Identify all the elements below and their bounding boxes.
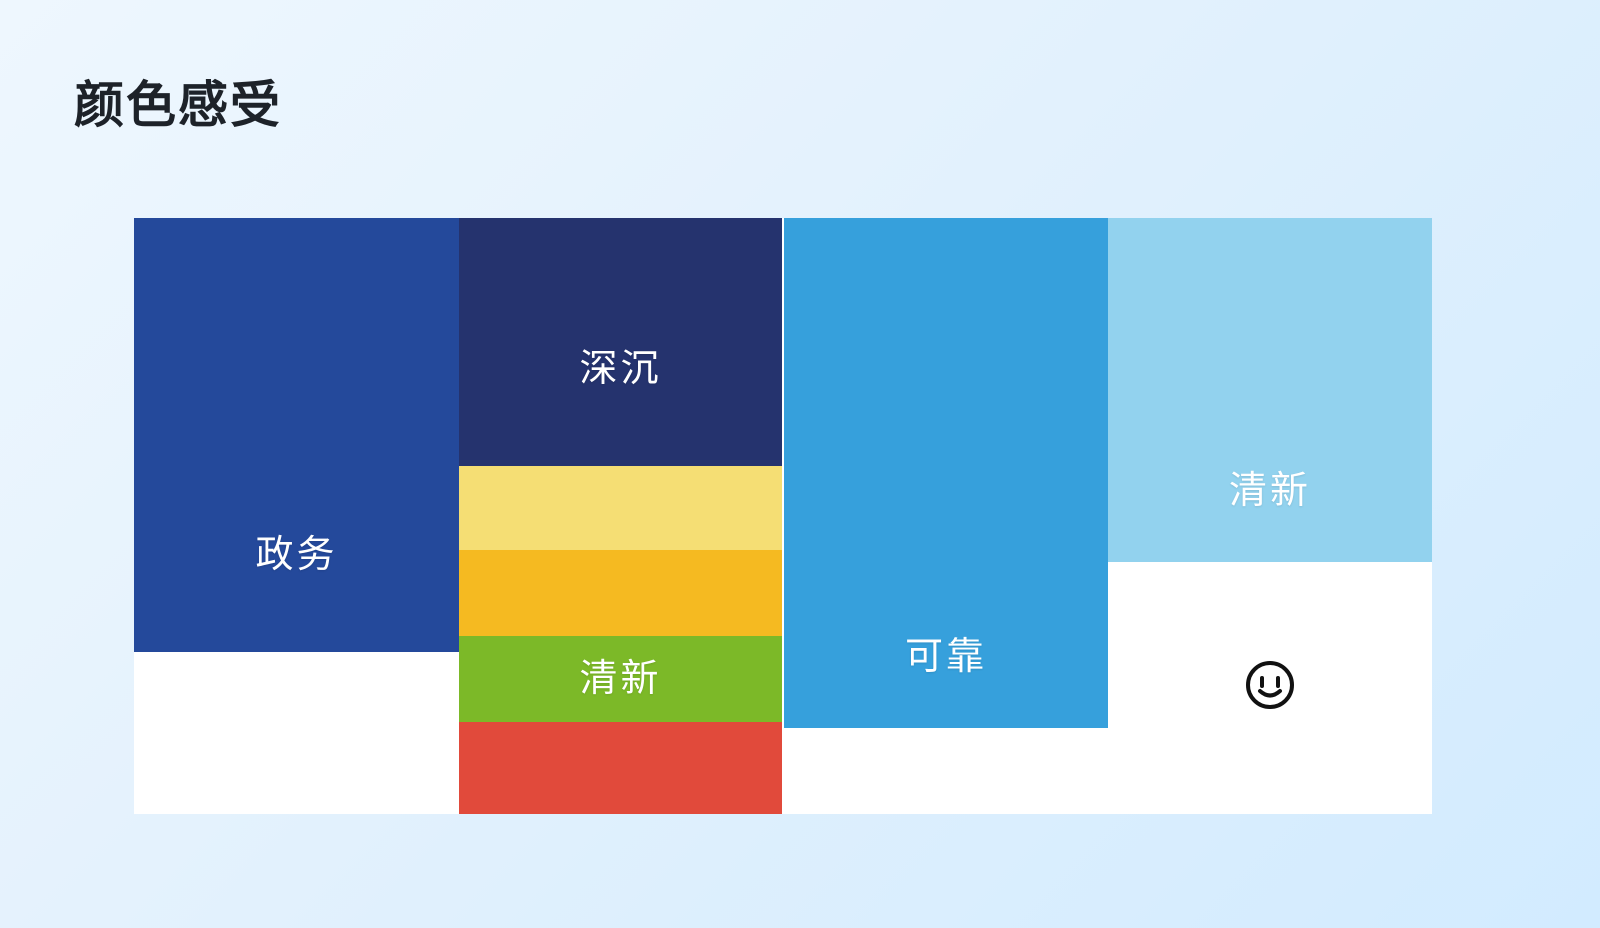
swatch-label-qingxin: 清新 <box>1229 472 1311 510</box>
swatch-kekao[interactable]: 可靠 <box>784 218 1108 728</box>
smiley-face-icon <box>1108 662 1432 708</box>
slide-canvas: 颜色感受 政务 深沉 清新 <box>0 0 1600 928</box>
swatch-label-green-qingxin: 清新 <box>579 660 661 698</box>
page-title: 颜色感受 <box>74 80 282 130</box>
swatch-shenchen[interactable]: 深沉 <box>459 218 782 466</box>
swatch-column-zhengwu[interactable]: 政务 <box>134 218 459 814</box>
swatch-zhengwu[interactable]: 政务 <box>134 218 459 652</box>
swatch-label-zhengwu: 政务 <box>255 536 337 574</box>
swatch-column-kekao[interactable]: 可靠 <box>784 218 1108 814</box>
swatch-column-shenchen[interactable]: 深沉 清新 <box>459 218 782 814</box>
swatch-light-yellow[interactable] <box>459 466 782 550</box>
swatch-qingxin[interactable]: 清新 <box>1108 218 1432 562</box>
swatch-green-qingxin[interactable]: 清新 <box>459 636 782 722</box>
swatch-label-kekao: 可靠 <box>905 638 987 676</box>
color-swatch-chart: 政务 深沉 清新 可靠 <box>134 218 1432 814</box>
swatch-column-qingxin[interactable]: 清新 <box>1108 218 1432 814</box>
swatch-gold[interactable] <box>459 550 782 636</box>
swatch-red[interactable] <box>459 722 782 814</box>
swatch-label-shenchen: 深沉 <box>579 350 661 388</box>
